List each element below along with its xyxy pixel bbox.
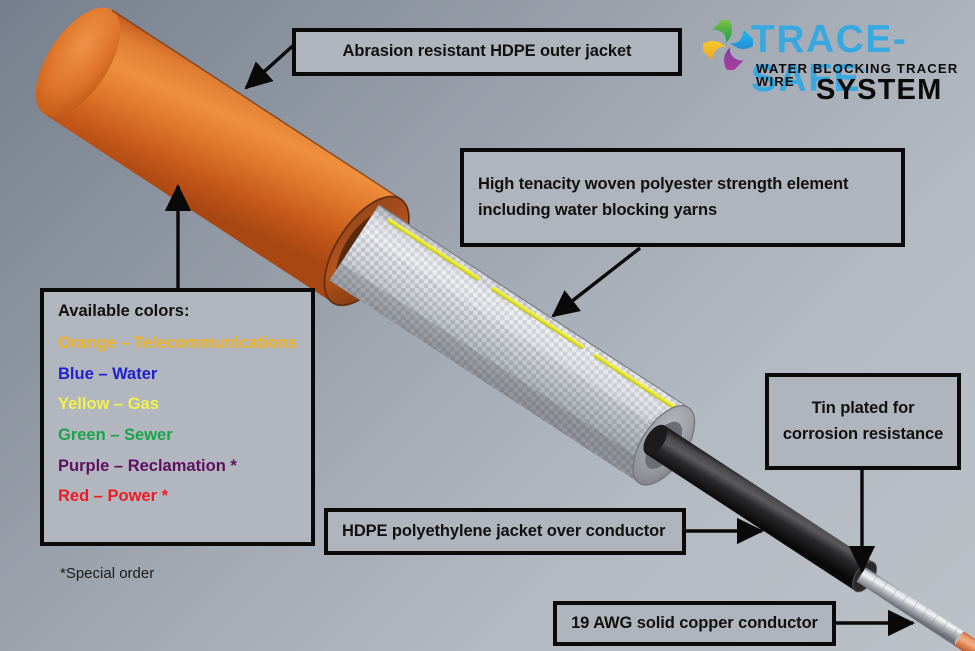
callout-tin-plated-line-2: corrosion resistance (783, 422, 943, 448)
logo-system-word: SYSTEM (816, 76, 942, 105)
callout-hdpe-inner-jacket-line-1: HDPE polyethylene jacket over conductor (342, 519, 682, 545)
special-order-footnote: *Special order (60, 565, 154, 582)
tin-plated-conductor-layer (857, 567, 970, 649)
trace-safe-pinwheel-icon (703, 20, 753, 70)
color-item-purple: Purple – Reclamation * (58, 457, 311, 475)
callout-tin-plated-line-1: Tin plated for (812, 396, 915, 422)
available-colors-box[interactable]: Available colors: Orange – Telecommunica… (40, 288, 315, 546)
callout-copper-conductor-line-1: 19 AWG solid copper conductor (571, 611, 818, 637)
available-colors-title: Available colors: (58, 302, 311, 321)
callout-copper-conductor[interactable]: 19 AWG solid copper conductor (553, 601, 836, 646)
callout-outer-jacket[interactable]: Abrasion resistant HDPE outer jacket (292, 28, 682, 76)
callout-strength-element-line-1: High tenacity woven polyester strength e… (478, 172, 901, 198)
color-item-green: Green – Sewer (58, 426, 311, 444)
color-item-orange: Orange – Telecommunications (58, 334, 311, 352)
callout-outer-jacket-line-1: Abrasion resistant HDPE outer jacket (343, 39, 632, 65)
color-item-yellow: Yellow – Gas (58, 395, 311, 413)
callout-tin-plated[interactable]: Tin plated for corrosion resistance (765, 373, 961, 470)
callout-strength-element[interactable]: High tenacity woven polyester strength e… (460, 148, 905, 247)
color-item-blue: Blue – Water (58, 365, 311, 383)
brand-logo: TRACE-SAFE° WATER BLOCKING TRACER WIRE S… (703, 12, 965, 104)
callout-hdpe-inner-jacket[interactable]: HDPE polyethylene jacket over conductor (324, 508, 686, 555)
callout-strength-element-line-2: including water blocking yarns (478, 198, 901, 224)
diagram-canvas: Abrasion resistant HDPE outer jacket Hig… (0, 0, 975, 651)
color-item-red: Red – Power * (58, 487, 311, 505)
